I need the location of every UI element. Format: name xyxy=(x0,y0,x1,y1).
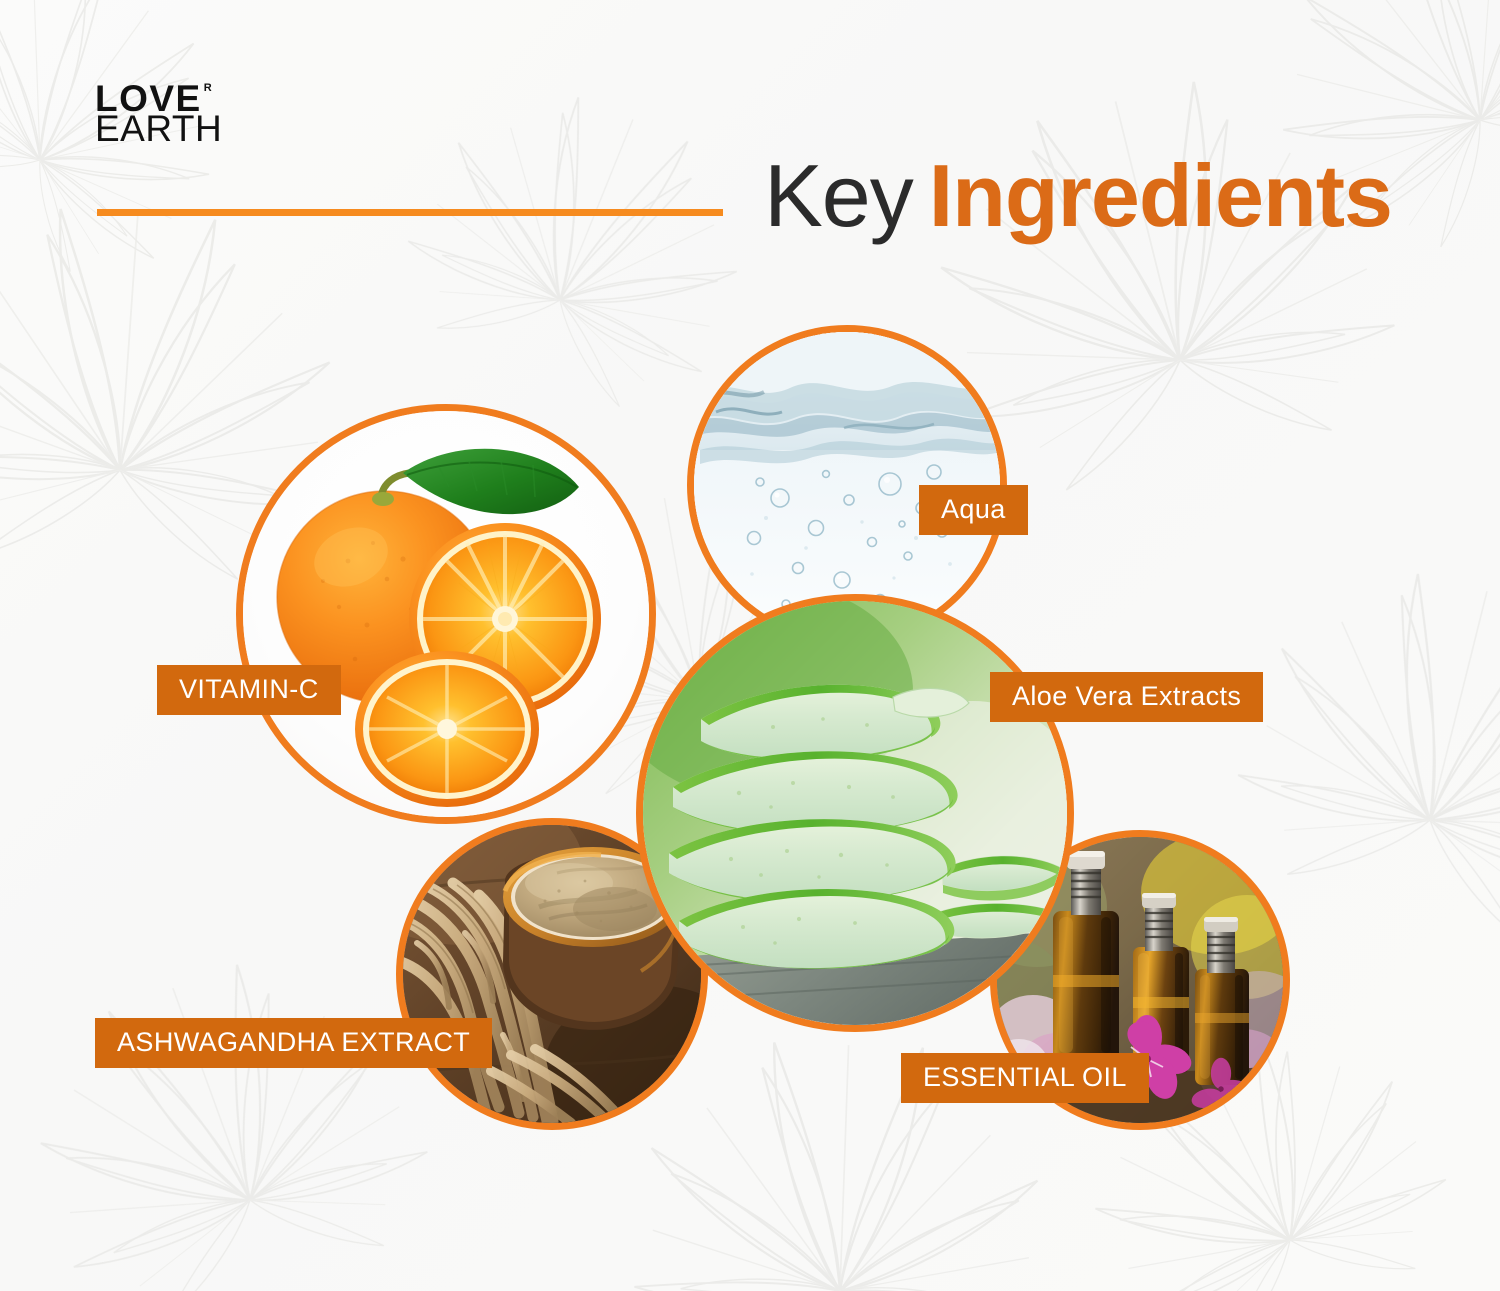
ingredient-label-ashwagandha: ASHWAGANDHA EXTRACT xyxy=(95,1018,492,1068)
ingredient-label-essential-oil: ESSENTIAL OIL xyxy=(901,1053,1149,1103)
brand-logo-line1: LOVE xyxy=(95,82,202,115)
key-ingredients-poster: LOVER EARTH KeyIngredients xyxy=(0,0,1500,1291)
ingredient-circle-vitamin-c[interactable] xyxy=(236,404,656,824)
brand-logo: LOVER EARTH xyxy=(95,82,222,146)
title-rule-divider xyxy=(97,209,723,216)
page-title-accent: Ingredients xyxy=(929,146,1392,245)
page-title: KeyIngredients xyxy=(764,152,1392,240)
registered-trademark-mark: R xyxy=(204,82,212,94)
ingredient-label-vitamin-c: VITAMIN-C xyxy=(157,665,341,715)
page-title-light: Key xyxy=(764,146,913,245)
ingredient-label-aloe-vera: Aloe Vera Extracts xyxy=(990,672,1263,722)
ingredient-circle-aloe-vera[interactable] xyxy=(636,594,1074,1032)
ingredient-label-aqua: Aqua xyxy=(919,485,1028,535)
aloe-vera-slices-image xyxy=(643,601,1067,1025)
orange-fruit-image xyxy=(243,411,649,817)
